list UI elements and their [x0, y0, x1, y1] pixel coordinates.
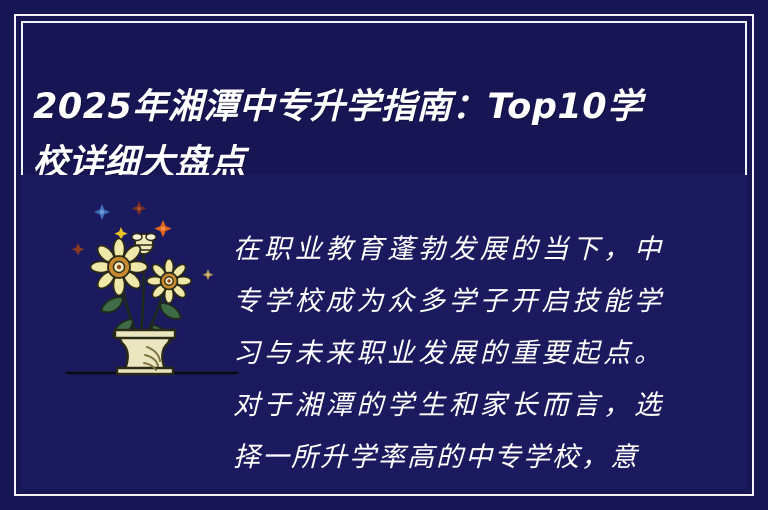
sparkle-tan-icon: [202, 269, 213, 280]
poster-canvas: 2025年湘潭中专升学指南：Top10学校详细大盘点: [0, 0, 768, 510]
flower-small-icon: [147, 259, 191, 303]
sparkle-darkred-icon: [132, 201, 147, 216]
content-panel: 在职业教育蓬勃发展的当下，中专学校成为众多学子开启技能学习与未来职业发展的重要起…: [21, 175, 747, 489]
flower-large-icon: [91, 239, 148, 296]
flower-vase-illustration: [61, 187, 251, 397]
sparkle-blue-icon: [94, 204, 110, 220]
body-paragraph: 在职业教育蓬勃发展的当下，中专学校成为众多学子开启技能学习与未来职业发展的重要起…: [233, 224, 663, 484]
sparkle-orange-icon: [154, 220, 171, 237]
sparkle-rust-icon: [72, 243, 85, 256]
vase: [115, 330, 175, 374]
